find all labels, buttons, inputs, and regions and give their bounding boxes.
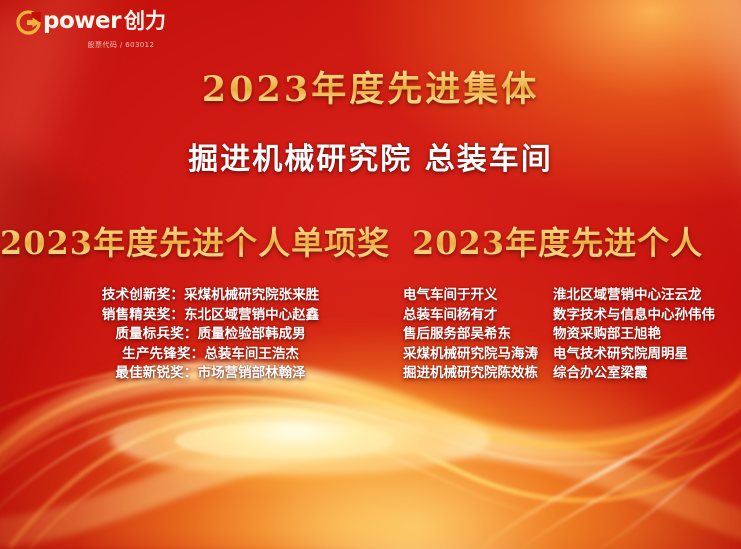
award-label: 最佳新锐奖： [115, 365, 197, 381]
list-item: 掘进机械研究院陈效栋 综合办公室梁霞 [403, 364, 733, 384]
award-recipient: 东北区域营销中心赵鑫 [184, 307, 319, 323]
award-label: 质量标兵奖： [115, 326, 197, 342]
award-recipient: 采煤机械研究院马海涛 [403, 345, 553, 365]
award-lists: 技术创新奖：采煤机械研究院张来胜 销售精英奖：东北区域营销中心赵鑫 质量标兵奖：… [0, 286, 741, 384]
section-headings: 2023年度先进个人单项奖 2023年度先进个人 [0, 218, 741, 264]
list-item: 售后服务部吴希东 物资采购部王旭艳 [403, 325, 733, 345]
c-arrow-logo-icon [16, 10, 41, 35]
list-item: 最佳新锐奖：市场营销部林翰泽 [18, 364, 403, 384]
list-item: 技术创新奖：采煤机械研究院张来胜 [18, 286, 403, 306]
page-subtitle: 掘进机械研究院 总装车间 [0, 134, 741, 178]
heading-individual-award: 2023年度先进个人 [390, 218, 741, 264]
company-logo: power 创力 股票代码 / 603012 [16, 10, 216, 50]
list-item: 销售精英奖：东北区域营销中心赵鑫 [18, 306, 403, 326]
list-item: 质量标兵奖：质量检验部韩成男 [18, 325, 403, 345]
award-recipient: 质量检验部韩成男 [198, 326, 306, 342]
list-individual-award: 电气车间于开义 淮北区域营销中心汪云龙 总装车间杨有才 数字技术与信息中心孙伟伟… [403, 286, 741, 384]
award-recipient: 电气技术研究院周明星 [553, 345, 688, 365]
award-recipient: 市场营销部林翰泽 [198, 365, 306, 381]
award-recipient: 售后服务部吴希东 [403, 325, 553, 345]
list-item: 生产先锋奖：总装车间王浩杰 [18, 345, 403, 365]
award-recipient: 物资采购部王旭艳 [553, 325, 661, 345]
heading-individual-special-award: 2023年度先进个人单项奖 [0, 218, 390, 264]
list-individual-special-award: 技术创新奖：采煤机械研究院张来胜 销售精英奖：东北区域营销中心赵鑫 质量标兵奖：… [0, 286, 403, 384]
award-recipient: 掘进机械研究院陈效栋 [403, 364, 553, 384]
logo-wordmark: power [43, 10, 121, 33]
list-item: 总装车间杨有才 数字技术与信息中心孙伟伟 [403, 306, 733, 326]
list-item: 电气车间于开义 淮北区域营销中心汪云龙 [403, 286, 733, 306]
page-title: 2023年度先进集体 [0, 61, 741, 112]
award-label: 技术创新奖： [102, 287, 184, 303]
stock-code-label: 股票代码 / 603012 [46, 40, 196, 50]
award-recipient: 淮北区域营销中心汪云龙 [553, 286, 702, 306]
list-item: 采煤机械研究院马海涛 电气技术研究院周明星 [403, 345, 733, 365]
award-recipient: 总装车间杨有才 [403, 306, 553, 326]
award-poster: power 创力 股票代码 / 603012 2023年度先进集体 掘进机械研究… [0, 0, 741, 549]
award-label: 销售精英奖： [102, 307, 184, 323]
award-recipient: 电气车间于开义 [403, 286, 553, 306]
award-recipient: 总装车间王浩杰 [204, 346, 299, 362]
award-recipient: 采煤机械研究院张来胜 [184, 287, 319, 303]
award-label: 生产先锋奖： [122, 346, 204, 362]
award-recipient: 数字技术与信息中心孙伟伟 [553, 306, 715, 326]
logo-wordmark-cn: 创力 [124, 11, 166, 32]
award-recipient: 综合办公室梁霞 [553, 364, 648, 384]
